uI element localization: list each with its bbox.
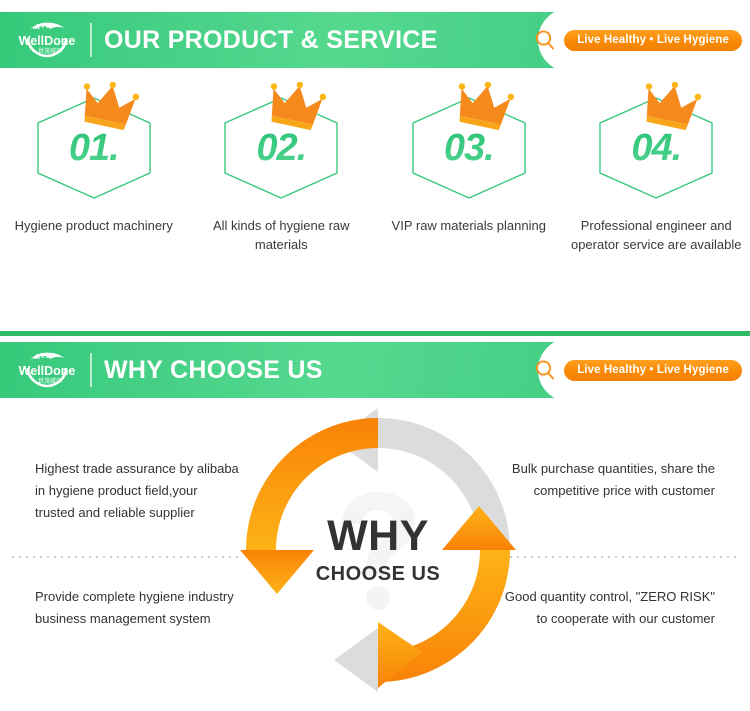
why-blurb-top-right: Bulk purchase quantities, share the comp…	[500, 458, 715, 502]
slogan-badge[interactable]: Live Healthy • Live Hygiene	[564, 30, 742, 51]
gray-arrow-head-bottom	[334, 628, 378, 692]
svg-text:世茂威尔: 世茂威尔	[38, 377, 62, 385]
hex-number: 01.	[32, 96, 156, 200]
header-separator	[90, 353, 92, 387]
header-separator	[90, 23, 92, 57]
card-caption: Professional engineer and operator servi…	[569, 216, 744, 254]
svg-text:世茂威尔: 世茂威尔	[38, 47, 62, 55]
product-card[interactable]: 04. Professional engineer and operator s…	[563, 82, 750, 254]
dotted-divider-right	[510, 556, 738, 558]
section-divider-rule	[0, 331, 750, 336]
orange-arrow-head-left	[240, 550, 314, 594]
card-caption: All kinds of hygiene raw materials	[194, 216, 369, 254]
section-header-why-choose-us: WellDone 世茂威尔 WHY CHOOSE US Live Healthy…	[0, 342, 750, 398]
hex-badge: 03.	[407, 82, 531, 200]
why-choose-us-body: WHY CHOOSE US Highest trade assurance by…	[0, 400, 750, 711]
hex-badge: 01.	[32, 82, 156, 200]
welldone-logo-icon: WellDone 世茂威尔	[14, 346, 80, 394]
svg-text:WellDone: WellDone	[19, 34, 76, 48]
hex-number: 02.	[219, 96, 343, 200]
svg-text:WellDone: WellDone	[19, 364, 76, 378]
product-card[interactable]: 01. Hygiene product machinery	[0, 82, 188, 254]
search-icon[interactable]	[533, 28, 557, 52]
brand-logo[interactable]: WellDone 世茂威尔	[14, 16, 80, 64]
hex-number: 04.	[594, 96, 718, 200]
section-title: OUR PRODUCT & SERVICE	[104, 23, 438, 57]
slogan-badge[interactable]: Live Healthy • Live Hygiene	[564, 360, 742, 381]
why-blurb-bottom-right: Good quantity control, "ZERO RISK" to co…	[500, 586, 715, 630]
card-caption: Hygiene product machinery	[6, 216, 181, 235]
section-title: WHY CHOOSE US	[104, 353, 323, 387]
why-blurb-top-left: Highest trade assurance by alibaba in hy…	[35, 458, 240, 524]
hex-badge: 04.	[594, 82, 718, 200]
product-card[interactable]: 02. All kinds of hygiene raw materials	[188, 82, 376, 254]
hex-badge: 02.	[219, 82, 343, 200]
page-root: WellDone 世茂威尔 OUR PRODUCT & SERVICE Live…	[0, 0, 750, 711]
search-icon[interactable]	[533, 358, 557, 382]
product-card[interactable]: 03. VIP raw materials planning	[375, 82, 563, 254]
section-header-our-product: WellDone 世茂威尔 OUR PRODUCT & SERVICE Live…	[0, 12, 750, 68]
why-blurb-bottom-left: Provide complete hygiene industry busine…	[35, 586, 240, 630]
orange-arc-top-left	[246, 418, 378, 550]
hex-number: 03.	[407, 96, 531, 200]
header-right-group: Live Healthy • Live Hygiene	[533, 12, 742, 68]
brand-logo[interactable]: WellDone 世茂威尔	[14, 346, 80, 394]
circular-arrows-icon	[228, 400, 528, 700]
header-right-group: Live Healthy • Live Hygiene	[533, 342, 742, 398]
question-mark-icon	[342, 492, 415, 610]
welldone-logo-icon: WellDone 世茂威尔	[14, 16, 80, 64]
dotted-divider-left	[12, 556, 240, 558]
product-service-card-list: 01. Hygiene product machinery	[0, 82, 750, 254]
card-caption: VIP raw materials planning	[381, 216, 556, 235]
